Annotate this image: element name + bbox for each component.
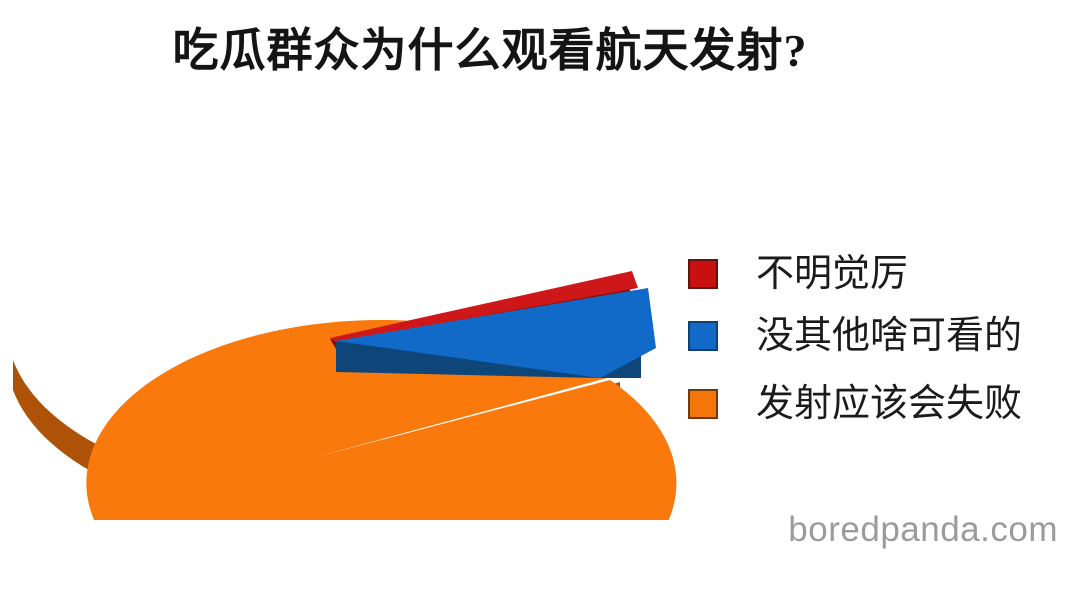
legend-label-1: 没其他啥可看的	[756, 314, 1022, 358]
legend-item-2[interactable]: 发射应该会失败	[688, 373, 1080, 435]
pie-chart	[0, 120, 700, 520]
watermark: boredpanda.com	[788, 510, 1058, 550]
legend-item-1[interactable]: 没其他啥可看的	[688, 305, 1080, 367]
legend: 不明觉厉 没其他啥可看的 发射应该会失败	[688, 243, 1080, 435]
legend-label-2: 发射应该会失败	[756, 382, 1022, 426]
chart-canvas: 吃瓜群众为什么观看航天发射? 不明觉厉	[0, 0, 1080, 594]
legend-swatch-orange	[688, 389, 718, 419]
legend-label-0: 不明觉厉	[756, 252, 908, 296]
legend-swatch-red	[688, 259, 718, 289]
legend-swatch-blue	[688, 321, 718, 351]
pie-chart-svg	[0, 120, 700, 520]
page-title: 吃瓜群众为什么观看航天发射?	[0, 22, 1080, 80]
legend-item-0[interactable]: 不明觉厉	[688, 243, 1080, 305]
